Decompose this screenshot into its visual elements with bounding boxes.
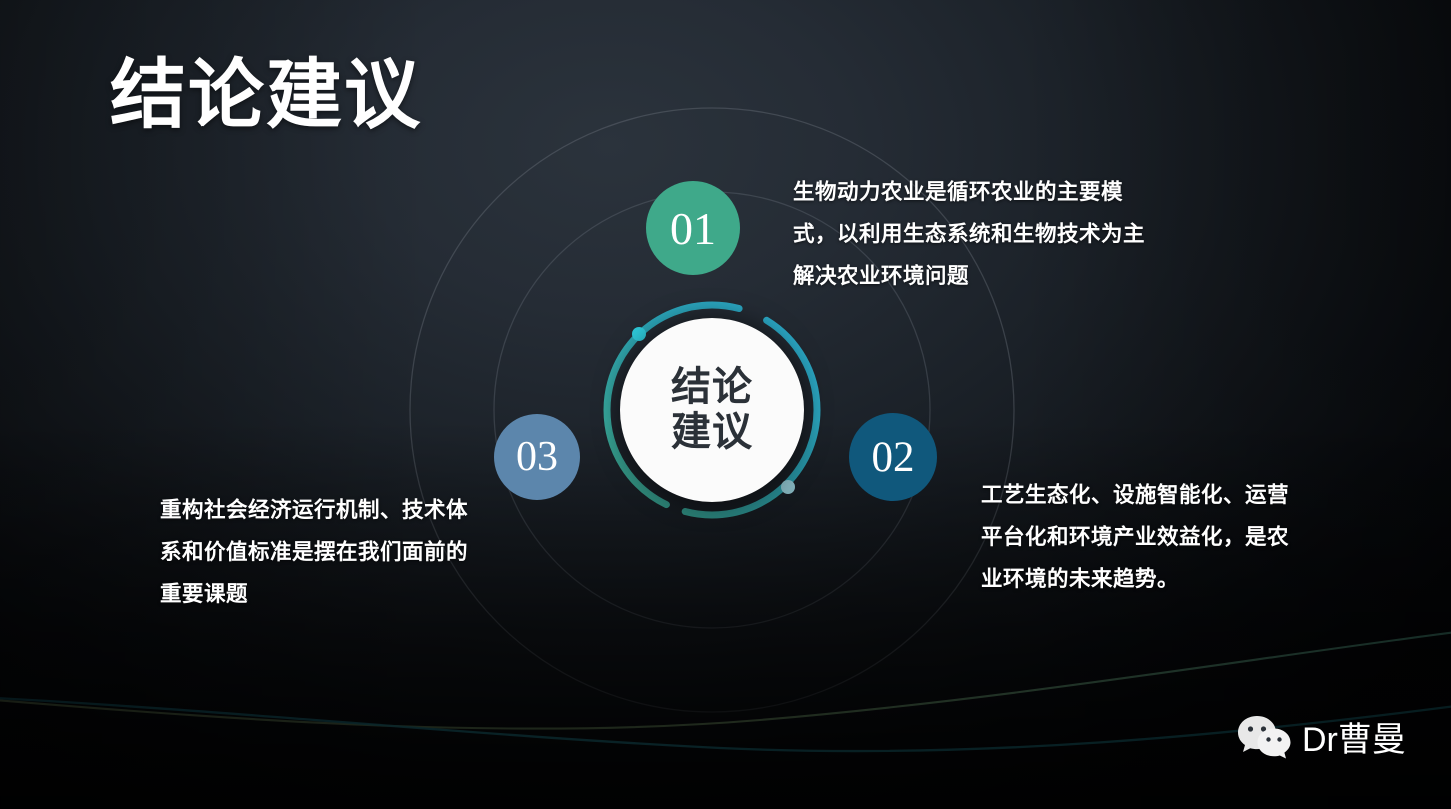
diagram-node-01[interactable]: 01 xyxy=(646,181,740,275)
wechat-logo: Dr曹曼 xyxy=(1236,712,1406,761)
diagram-node-03[interactable]: 03 xyxy=(494,414,580,500)
slide-canvas: 结论建议 结论 建议 01 02 03 生物动力农业是循环农业的主要模式，以利用… xyxy=(0,0,1451,809)
node-01-label: 01 xyxy=(670,202,716,255)
node-03-description: 重构社会经济运行机制、技术体系和价值标准是摆在我们面前的重要课题 xyxy=(160,490,480,616)
hub-label-line1: 结论 xyxy=(671,365,753,410)
diagram-node-02[interactable]: 02 xyxy=(849,413,937,501)
node-01-description: 生物动力农业是循环农业的主要模式，以利用生态系统和生物技术为主解决农业环境问题 xyxy=(793,172,1163,298)
node-02-label: 02 xyxy=(872,433,915,482)
wechat-logo-text: Dr曹曼 xyxy=(1302,712,1406,761)
page-title: 结论建议 xyxy=(110,58,422,134)
diagram-center-hub: 结论 建议 xyxy=(620,318,804,502)
wechat-icon xyxy=(1236,714,1294,760)
node-02-description: 工艺生态化、设施智能化、运营平台化和环境产业效益化，是农业环境的未来趋势。 xyxy=(981,475,1301,601)
node-03-label: 03 xyxy=(516,433,558,481)
hub-label-line2: 建议 xyxy=(671,410,753,455)
